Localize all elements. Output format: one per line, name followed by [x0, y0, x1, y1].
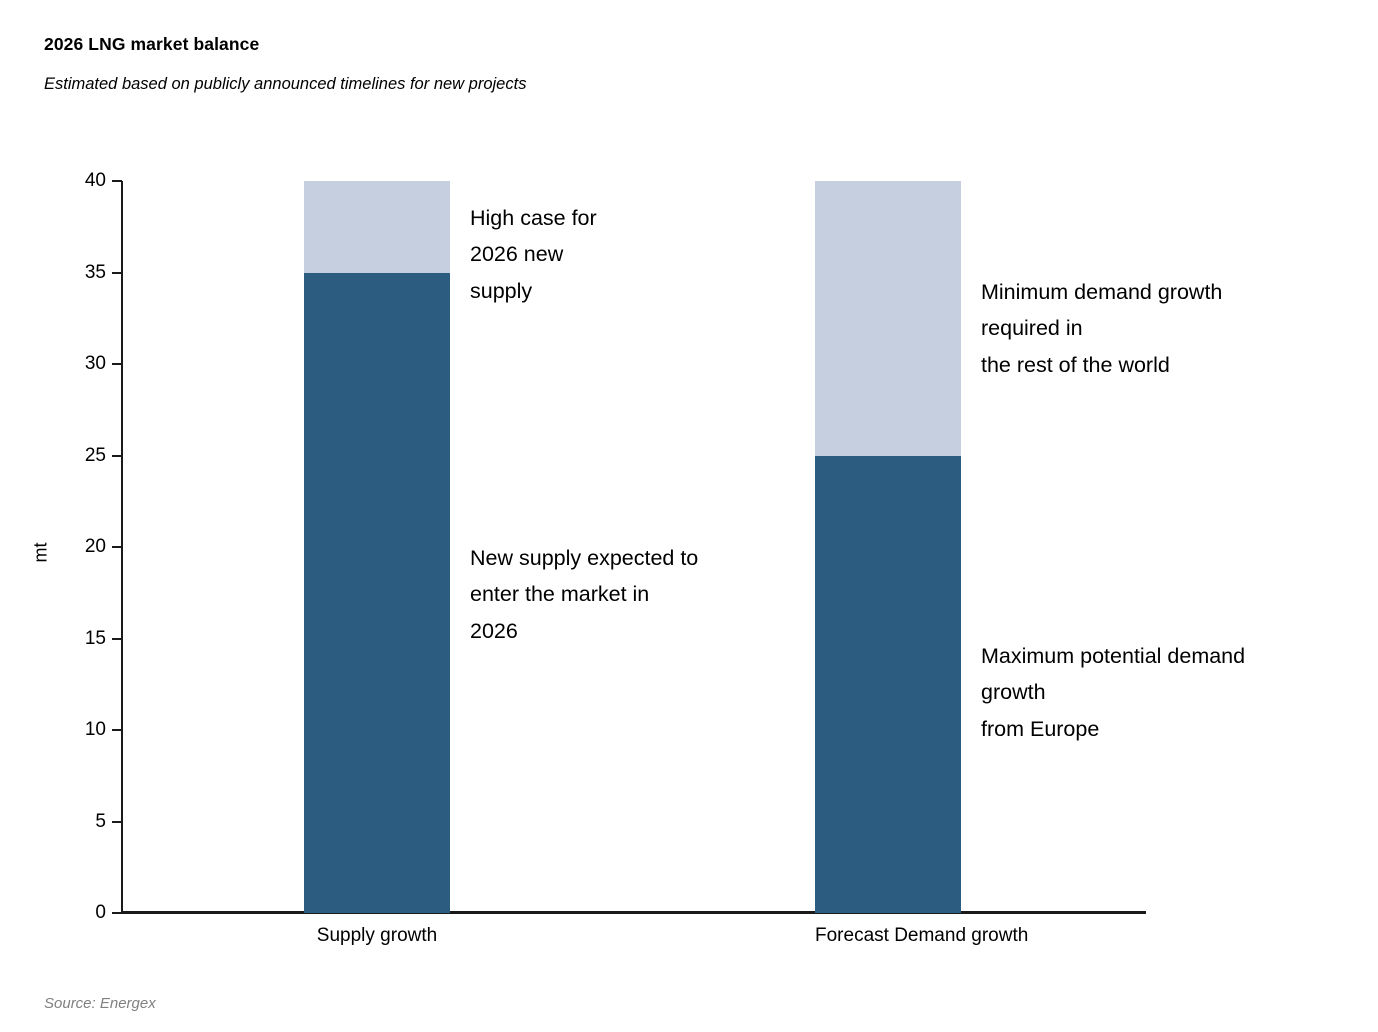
- bar-segment[interactable]: [304, 181, 450, 273]
- source-note: Source: Energex: [44, 995, 156, 1012]
- y-axis-tick-mark: [112, 363, 122, 365]
- y-axis-tick-mark: [112, 455, 122, 457]
- annotation-demand-upside: Minimum demand growth required in the re…: [981, 274, 1361, 383]
- y-axis-tick-label: 40: [46, 171, 106, 190]
- bar-segment[interactable]: [815, 181, 961, 456]
- y-axis-tick-label: 10: [46, 720, 106, 739]
- chart-subtitle: Estimated based on publicly announced ti…: [44, 75, 526, 94]
- annotation-supply-base: New supply expected to enter the market …: [470, 540, 820, 649]
- y-axis-tick-mark: [112, 638, 122, 640]
- y-axis-tick-label: 0: [46, 903, 106, 922]
- y-axis-tick-mark: [112, 729, 122, 731]
- y-axis-tick-label: 20: [46, 537, 106, 556]
- y-axis-tick-group: 0510152025303540: [32, 0, 106, 1032]
- bar-segment[interactable]: [304, 273, 450, 914]
- x-axis-category-label: Supply growth: [304, 925, 450, 947]
- y-axis-tick-label: 15: [46, 629, 106, 648]
- x-axis-category-label: Forecast Demand growth: [815, 925, 961, 947]
- y-axis-tick-mark: [112, 546, 122, 548]
- y-axis-tick-label: 30: [46, 354, 106, 373]
- annotation-demand-base: Maximum potential demand growth from Eur…: [981, 638, 1371, 747]
- y-axis-tick-mark: [112, 272, 122, 274]
- y-axis-tick-label: 25: [46, 446, 106, 465]
- annotation-supply-upside: High case for 2026 new supply: [470, 200, 800, 309]
- y-axis-tick-mark: [112, 912, 122, 914]
- y-axis-tick-mark: [112, 180, 122, 182]
- y-axis-tick-label: 35: [46, 263, 106, 282]
- y-axis-tick-mark: [112, 821, 122, 823]
- y-axis-tick-label: 5: [46, 812, 106, 831]
- bar-segment[interactable]: [815, 456, 961, 914]
